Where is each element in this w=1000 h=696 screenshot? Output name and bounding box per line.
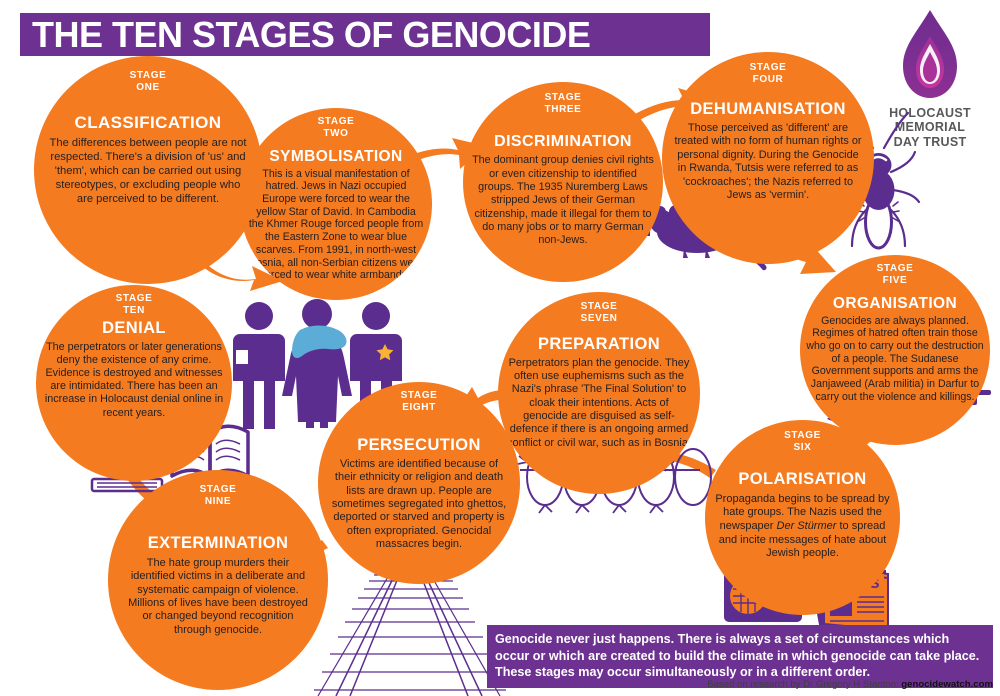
blue-scarf-icon bbox=[292, 326, 347, 359]
stage-circle-organisation[interactable]: STAGE FIVE ORGANISATION Genocides are al… bbox=[800, 255, 990, 445]
stage-circle-polarisation[interactable]: STAGE SIX POLARISATION Propaganda begins… bbox=[705, 420, 900, 615]
stage-number: STAGE NINE bbox=[108, 484, 328, 508]
stage-title: POLARISATION bbox=[705, 470, 900, 488]
stage-title: SYMBOLISATION bbox=[240, 148, 432, 165]
stage-title: EXTERMINATION bbox=[108, 534, 328, 552]
logo-text: HOLOCAUST MEMORIAL DAY TRUST bbox=[865, 106, 995, 149]
person-blue-scarf-icon bbox=[282, 299, 352, 428]
stage-circle-extermination[interactable]: STAGE NINE EXTERMINATION The hate group … bbox=[108, 470, 328, 690]
logo-line-2: MEMORIAL bbox=[865, 120, 995, 134]
stage-circle-persecution[interactable]: STAGE EIGHT PERSECUTION Victims are iden… bbox=[318, 382, 520, 584]
stage-circle-preparation[interactable]: STAGE SEVEN PREPARATION Perpetrators pla… bbox=[498, 292, 700, 494]
stage-title: ORGANISATION bbox=[800, 295, 990, 312]
person-white-armband-icon bbox=[233, 302, 285, 429]
stage-body-emphasis: Der Stürmer bbox=[777, 520, 837, 532]
infographic-canvas: THE TEN STAGES OF GENOCIDE HOLOCAUST bbox=[0, 0, 1000, 696]
stage-body: Genocides are always planned. Regimes of… bbox=[800, 315, 990, 404]
stage-body: This is a visual manifestation of hatred… bbox=[240, 168, 432, 282]
stage-body: The perpetrators or later generations de… bbox=[36, 341, 232, 420]
flame-icon bbox=[899, 8, 961, 100]
stage-circle-dehumanisation[interactable]: STAGE FOUR DEHUMANISATION Those perceive… bbox=[662, 52, 874, 264]
summary-statement: Genocide never just happens. There is al… bbox=[495, 632, 979, 679]
stage-title: PERSECUTION bbox=[318, 436, 520, 454]
credit-website[interactable]: genocidewatch.com bbox=[901, 679, 993, 690]
stage-body: The hate group murders their identified … bbox=[108, 557, 328, 637]
stage-number: STAGE FOUR bbox=[662, 62, 874, 86]
logo[interactable]: HOLOCAUST MEMORIAL DAY TRUST bbox=[865, 8, 995, 149]
stage-circle-symbolisation[interactable]: STAGE TWO SYMBOLISATION This is a visual… bbox=[240, 108, 432, 300]
research-credit: Based on research by Dr Gregory H Stanto… bbox=[487, 679, 993, 690]
stage-body: Perpetrators plan the genocide. They oft… bbox=[498, 357, 700, 450]
stage-number: STAGE SEVEN bbox=[498, 301, 700, 325]
stage-number: STAGE ONE bbox=[34, 70, 262, 94]
stage-number: STAGE EIGHT bbox=[318, 390, 520, 414]
stage-title: DEHUMANISATION bbox=[662, 100, 874, 118]
stage-number: STAGE THREE bbox=[463, 92, 663, 116]
stage-circle-denial[interactable]: STAGE TEN DENIAL The perpetrators or lat… bbox=[36, 285, 232, 481]
white-armband-icon bbox=[236, 350, 248, 364]
stage-title: CLASSIFICATION bbox=[34, 114, 262, 133]
stage-title: DISCRIMINATION bbox=[463, 133, 663, 151]
yellow-star-icon bbox=[377, 344, 394, 360]
stage-number: STAGE TEN bbox=[36, 293, 232, 317]
stage-title: PREPARATION bbox=[498, 335, 700, 353]
credit-prefix: Based on research by Dr Gregory H Stanto… bbox=[707, 679, 901, 690]
stage-body: Victims are identified because of their … bbox=[318, 458, 520, 552]
stage-body: Those perceived as 'different' are treat… bbox=[662, 122, 874, 203]
stage-circle-discrimination[interactable]: STAGE THREE DISCRIMINATION The dominant … bbox=[463, 82, 663, 282]
stage-title: DENIAL bbox=[36, 319, 232, 337]
stage-body: The differences between people are not r… bbox=[34, 137, 262, 206]
stage-body: Propaganda begins to be spread by hate g… bbox=[705, 493, 900, 561]
stage-number: STAGE FIVE bbox=[800, 263, 990, 287]
logo-line-3: DAY TRUST bbox=[865, 135, 995, 149]
page-title-bar: THE TEN STAGES OF GENOCIDE bbox=[20, 13, 710, 56]
stage-circle-classification[interactable]: STAGE ONE CLASSIFICATION The differences… bbox=[34, 56, 262, 284]
stage-number: STAGE TWO bbox=[240, 116, 432, 140]
logo-line-1: HOLOCAUST bbox=[865, 106, 995, 120]
stage-body: The dominant group denies civil rights o… bbox=[463, 154, 663, 248]
page-title: THE TEN STAGES OF GENOCIDE bbox=[32, 17, 590, 53]
